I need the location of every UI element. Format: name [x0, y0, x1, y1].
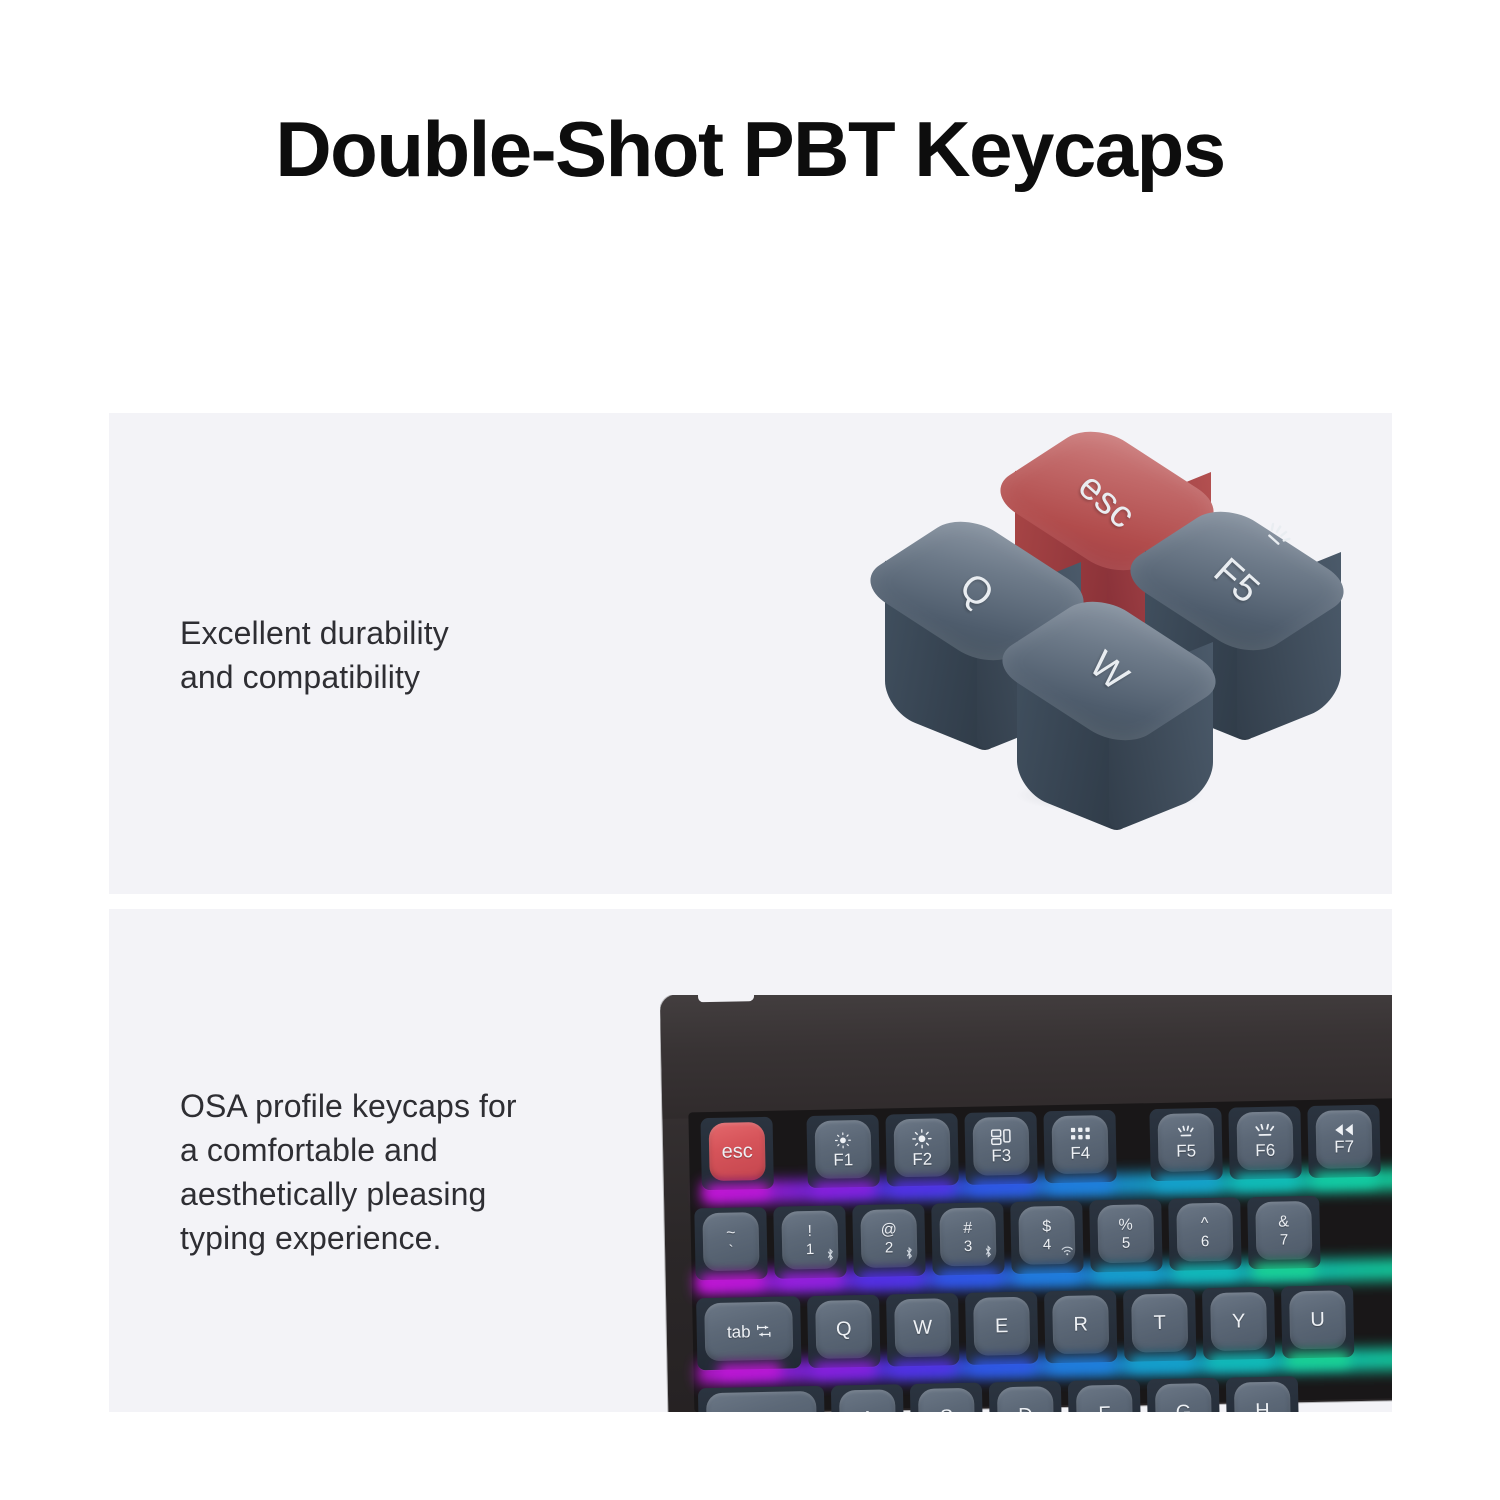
- key-glow: [1253, 1263, 1317, 1278]
- key-g-cap: G: [1155, 1383, 1212, 1412]
- key-s-cap: S: [918, 1388, 975, 1412]
- key-glow: [700, 1274, 764, 1289]
- caption-line: and compatibility: [180, 655, 449, 699]
- caption-durability: Excellent durability and compatibility: [180, 611, 449, 699]
- key-backtick-upper: ~: [726, 1225, 736, 1241]
- key-f1-cap: F1: [815, 1120, 872, 1179]
- key-u-cap: U: [1289, 1290, 1346, 1349]
- key-h-cap: H: [1234, 1381, 1291, 1412]
- key-f6[interactable]: F6: [1228, 1106, 1301, 1179]
- key-s[interactable]: S: [910, 1383, 983, 1412]
- caption-osa-profile: OSA profile keycaps for a comfortable an…: [180, 1084, 517, 1261]
- key-y[interactable]: Y: [1202, 1287, 1275, 1360]
- key-f4[interactable]: F4: [1043, 1110, 1116, 1183]
- key-glow: [937, 1269, 1001, 1284]
- key-h-label: H: [1255, 1401, 1270, 1412]
- key-2[interactable]: @ 2: [852, 1204, 925, 1277]
- key-glow: [1174, 1264, 1238, 1279]
- key-q[interactable]: Q: [807, 1295, 880, 1368]
- key-1-cap: ! 1: [781, 1210, 838, 1269]
- key-glow: [1155, 1175, 1219, 1190]
- key-backtick[interactable]: ~ `: [694, 1207, 767, 1280]
- key-2-cap: @ 2: [860, 1209, 917, 1268]
- key-4-cap: $ 4: [1018, 1206, 1075, 1265]
- key-3-upper: #: [963, 1220, 972, 1236]
- keyboard-keys: esc: [660, 995, 1392, 1412]
- row-gap: [779, 1116, 800, 1188]
- key-y-cap: Y: [1210, 1292, 1267, 1351]
- key-6[interactable]: ^ 6: [1168, 1197, 1241, 1270]
- key-7-lower: 7: [1280, 1232, 1289, 1247]
- key-glow: [891, 1180, 955, 1195]
- key-6-upper: ^: [1201, 1216, 1209, 1232]
- key-glow: [1313, 1172, 1377, 1187]
- key-f4-cap: F4: [1052, 1115, 1109, 1174]
- key-f5-cap: F5: [1157, 1113, 1214, 1172]
- key-3[interactable]: # 3: [931, 1202, 1004, 1275]
- key-caps-lock-cap: caps lock: [706, 1391, 817, 1412]
- key-1-lower: 1: [806, 1241, 815, 1256]
- key-5-cap: % 5: [1097, 1204, 1154, 1263]
- key-glow: [1049, 1177, 1113, 1192]
- key-glow: [706, 1184, 770, 1199]
- key-6-cap: ^ 6: [1176, 1203, 1233, 1262]
- rewind-icon: [1333, 1123, 1355, 1136]
- key-7[interactable]: & 7: [1247, 1196, 1320, 1269]
- key-glow: [1286, 1352, 1350, 1367]
- key-3-cap: # 3: [939, 1207, 996, 1266]
- key-tab[interactable]: tab: [696, 1296, 801, 1370]
- key-tab-label: tab: [727, 1323, 751, 1340]
- key-glow: [891, 1360, 955, 1375]
- key-f7-cap: F7: [1315, 1110, 1372, 1169]
- key-f2-cap: F2: [894, 1118, 951, 1177]
- key-f7-label: F7: [1334, 1138, 1354, 1155]
- bluetooth-icon: [984, 1245, 992, 1257]
- key-w-label: W: [913, 1318, 932, 1338]
- key-7-cap: & 7: [1255, 1201, 1312, 1260]
- key-t[interactable]: T: [1123, 1288, 1196, 1361]
- keyboard-row-number: ~ ` ! 1 @: [694, 1196, 1320, 1281]
- key-esc-cap: esc: [709, 1122, 766, 1181]
- keyboard-row-function: esc: [700, 1105, 1380, 1191]
- key-s-label: S: [940, 1407, 954, 1412]
- key-glow: [1234, 1173, 1298, 1188]
- keyboard-row-qwerty: tab: [696, 1285, 1354, 1370]
- key-d-label: D: [1018, 1406, 1033, 1412]
- key-e[interactable]: E: [965, 1291, 1038, 1364]
- bluetooth-icon: [905, 1247, 913, 1259]
- key-e-label: E: [995, 1316, 1009, 1336]
- key-glow: [779, 1272, 843, 1287]
- key-esc-label: esc: [721, 1141, 753, 1162]
- caption-line: typing experience.: [180, 1216, 517, 1260]
- key-f3-label: F3: [991, 1146, 1011, 1163]
- key-f-label: F: [1098, 1404, 1111, 1412]
- key-backtick-lower: `: [728, 1243, 733, 1258]
- key-f7[interactable]: F7: [1307, 1105, 1380, 1178]
- backlight-down-icon: [1175, 1125, 1197, 1140]
- key-a[interactable]: A: [831, 1384, 904, 1412]
- key-2-upper: @: [880, 1222, 897, 1238]
- key-q-cap: Q: [815, 1300, 872, 1359]
- key-a-label: A: [861, 1409, 875, 1412]
- key-h[interactable]: H: [1226, 1376, 1299, 1412]
- caption-line: a comfortable and: [180, 1128, 517, 1172]
- key-g[interactable]: G: [1147, 1378, 1220, 1412]
- key-f2[interactable]: F2: [885, 1113, 958, 1186]
- key-r-label: R: [1073, 1314, 1088, 1334]
- key-t-cap: T: [1131, 1293, 1188, 1352]
- key-u-label: U: [1310, 1310, 1325, 1330]
- caption-line: aesthetically pleasing: [180, 1172, 517, 1216]
- key-3-lower: 3: [964, 1238, 973, 1253]
- key-glow: [970, 1179, 1034, 1194]
- key-caps-lock[interactable]: caps lock: [698, 1386, 825, 1412]
- key-f5[interactable]: F5: [1149, 1108, 1222, 1181]
- key-f1[interactable]: F1: [806, 1115, 879, 1188]
- key-f6-label: F6: [1255, 1141, 1275, 1158]
- key-glow: [970, 1359, 1034, 1374]
- key-f2-label: F2: [912, 1150, 932, 1167]
- key-a-cap: A: [839, 1389, 896, 1412]
- key-t-label: T: [1153, 1313, 1166, 1333]
- key-glow: [1049, 1357, 1113, 1372]
- key-2-lower: 2: [885, 1240, 894, 1255]
- key-r[interactable]: R: [1044, 1290, 1117, 1363]
- key-esc[interactable]: esc: [700, 1117, 773, 1190]
- key-d-cap: D: [997, 1386, 1054, 1412]
- key-glow: [1128, 1355, 1192, 1370]
- row-gap: [1122, 1109, 1143, 1181]
- key-f5-label: F5: [1176, 1142, 1196, 1159]
- keycap-cluster: esc F5: [709, 413, 1392, 894]
- key-f[interactable]: F: [1068, 1379, 1141, 1412]
- keyboard-image: esc: [660, 995, 1392, 1412]
- key-f4-label: F4: [1070, 1144, 1090, 1161]
- key-7-upper: &: [1278, 1214, 1289, 1230]
- keycap-w: W: [1009, 591, 1209, 791]
- page-title: Double-Shot PBT Keycaps: [0, 110, 1500, 188]
- key-y-label: Y: [1232, 1311, 1246, 1331]
- key-g-label: G: [1176, 1402, 1192, 1412]
- key-f6-cap: F6: [1236, 1111, 1293, 1170]
- key-glow: [717, 1364, 781, 1379]
- caption-line: OSA profile keycaps for: [180, 1084, 517, 1128]
- key-f3-cap: F3: [973, 1117, 1030, 1176]
- key-w[interactable]: W: [886, 1293, 959, 1366]
- key-glow: [1207, 1354, 1271, 1369]
- key-tab-cap: tab: [704, 1301, 793, 1361]
- key-q-label: Q: [836, 1319, 852, 1339]
- key-5-upper: %: [1118, 1217, 1133, 1233]
- key-r-cap: R: [1052, 1295, 1109, 1354]
- brightness-up-icon: [912, 1128, 932, 1148]
- key-glow: [858, 1271, 922, 1286]
- wifi-icon: [1061, 1246, 1073, 1256]
- key-w-cap: W: [894, 1298, 951, 1357]
- key-e-cap: E: [973, 1297, 1030, 1356]
- key-glow: [1016, 1268, 1080, 1283]
- key-d[interactable]: D: [989, 1381, 1062, 1412]
- mission-control-icon: [991, 1128, 1011, 1144]
- key-5-lower: 5: [1122, 1235, 1131, 1250]
- bluetooth-icon: [826, 1249, 834, 1261]
- key-backtick-cap: ~ `: [702, 1212, 759, 1271]
- brightness-down-icon: [834, 1131, 852, 1149]
- key-4-upper: $: [1042, 1219, 1051, 1235]
- backlight-up-icon: [1253, 1123, 1277, 1139]
- key-f1-label: F1: [833, 1151, 853, 1168]
- key-f-cap: F: [1076, 1385, 1133, 1412]
- launchpad-grid-icon: [1070, 1127, 1089, 1142]
- key-1-upper: !: [807, 1223, 812, 1239]
- panel-keycaps-closeup: Excellent durability and compatibility e…: [109, 413, 1392, 894]
- caption-line: Excellent durability: [180, 611, 449, 655]
- key-4[interactable]: $ 4: [1010, 1201, 1083, 1274]
- panel-keyboard-photo: OSA profile keycaps for a comfortable an…: [109, 909, 1392, 1412]
- key-5[interactable]: % 5: [1089, 1199, 1162, 1272]
- tab-arrows-icon: [756, 1324, 770, 1338]
- key-4-lower: 4: [1043, 1237, 1052, 1252]
- key-glow: [812, 1182, 876, 1197]
- key-u[interactable]: U: [1281, 1285, 1354, 1358]
- key-glow: [1095, 1266, 1159, 1281]
- key-1[interactable]: ! 1: [773, 1205, 846, 1278]
- key-glow: [812, 1362, 876, 1377]
- key-f3[interactable]: F3: [964, 1111, 1037, 1184]
- key-6-lower: 6: [1201, 1234, 1210, 1249]
